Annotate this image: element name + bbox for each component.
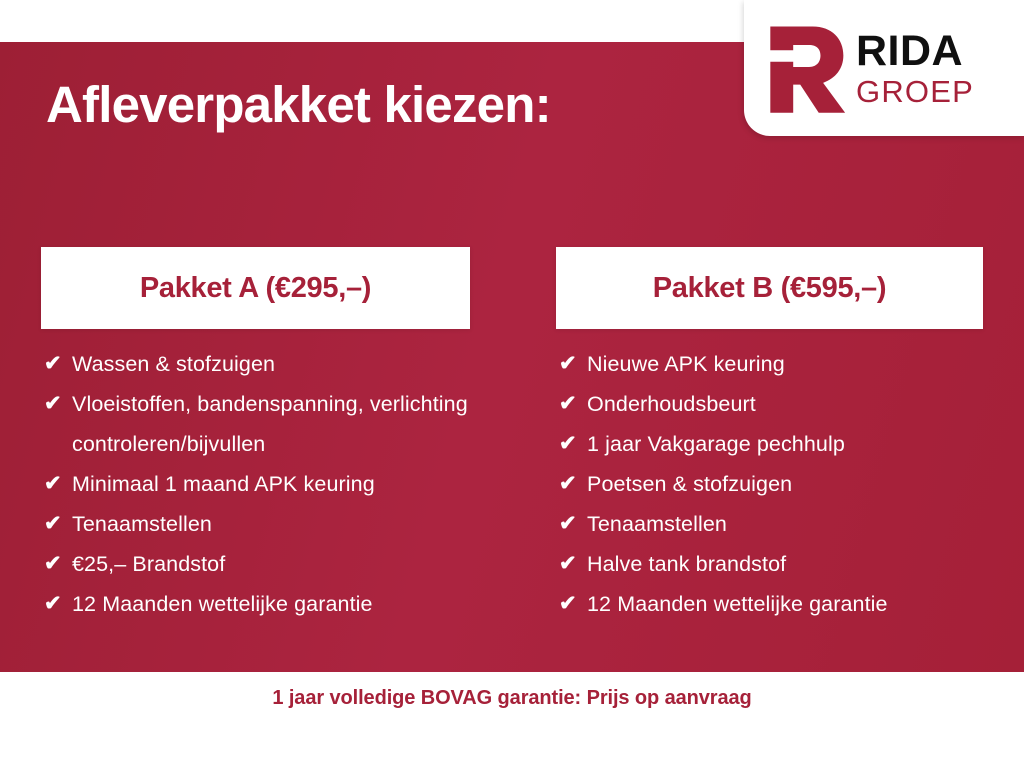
feature-label: Poetsen & stofzuigen [587,464,983,504]
check-icon: ✔ [556,344,587,384]
list-item: ✔ 12 Maanden wettelijke garantie [556,584,983,624]
feature-label: Nieuwe APK keuring [587,344,983,384]
feature-label: €25,– Brandstof [72,544,470,584]
feature-label: Halve tank brandstof [587,544,983,584]
brand-logo: RIDA GROEP [744,0,1024,136]
slide-root: Afleverpakket kiezen: Pakket A (€295,–) … [0,0,1024,768]
list-item: ✔ Tenaamstellen [41,504,470,544]
feature-label: Tenaamstellen [587,504,983,544]
feature-label: Vloeistoffen, bandenspanning, verlichtin… [72,384,470,464]
check-icon: ✔ [556,544,587,584]
check-icon: ✔ [41,344,72,384]
package-card-b: Pakket B (€595,–) ✔ Nieuwe APK keuring ✔… [556,247,983,624]
list-item: ✔ €25,– Brandstof [41,544,470,584]
feature-label: Wassen & stofzuigen [72,344,470,384]
check-icon: ✔ [41,544,72,584]
list-item: ✔ Tenaamstellen [556,504,983,544]
feature-label: 12 Maanden wettelijke garantie [72,584,470,624]
package-a-title: Pakket A (€295,–) [140,272,371,305]
red-background-panel: Afleverpakket kiezen: Pakket A (€295,–) … [0,42,1024,672]
list-item: ✔ Poetsen & stofzuigen [556,464,983,504]
feature-label: 12 Maanden wettelijke garantie [587,584,983,624]
check-icon: ✔ [556,464,587,504]
package-b-header: Pakket B (€595,–) [556,247,983,329]
package-b-feature-list: ✔ Nieuwe APK keuring ✔ Onderhoudsbeurt ✔… [556,344,983,624]
feature-label: 1 jaar Vakgarage pechhulp [587,424,983,464]
list-item: ✔ Onderhoudsbeurt [556,384,983,424]
package-b-title: Pakket B (€595,–) [653,272,887,305]
package-a-feature-list: ✔ Wassen & stofzuigen ✔ Vloeistoffen, ba… [41,344,470,624]
packages-container: Pakket A (€295,–) ✔ Wassen & stofzuigen … [0,42,1024,672]
logo-wordmark: RIDA GROEP [856,30,974,107]
list-item: ✔ 12 Maanden wettelijke garantie [41,584,470,624]
feature-label: Onderhoudsbeurt [587,384,983,424]
list-item: ✔ Halve tank brandstof [556,544,983,584]
list-item: ✔ Wassen & stofzuigen [41,344,470,384]
check-icon: ✔ [556,424,587,464]
list-item: ✔ Vloeistoffen, bandenspanning, verlicht… [41,384,470,464]
check-icon: ✔ [41,384,72,424]
logo-name-primary: RIDA [856,30,974,73]
list-item: ✔ Nieuwe APK keuring [556,344,983,384]
check-icon: ✔ [41,584,72,624]
feature-label: Minimaal 1 maand APK keuring [72,464,470,504]
check-icon: ✔ [556,504,587,544]
rida-r-mark-icon [758,21,846,113]
list-item: ✔ Minimaal 1 maand APK keuring [41,464,470,504]
check-icon: ✔ [556,384,587,424]
check-icon: ✔ [41,464,72,504]
check-icon: ✔ [41,504,72,544]
footer-bar: 1 jaar volledige BOVAG garantie: Prijs o… [0,672,1024,768]
feature-label: Tenaamstellen [72,504,470,544]
package-card-a: Pakket A (€295,–) ✔ Wassen & stofzuigen … [41,247,470,624]
list-item: ✔ 1 jaar Vakgarage pechhulp [556,424,983,464]
footer-guarantee-text: 1 jaar volledige BOVAG garantie: Prijs o… [0,687,1024,710]
check-icon: ✔ [556,584,587,624]
logo-name-secondary: GROEP [856,76,974,107]
package-a-header: Pakket A (€295,–) [41,247,470,329]
